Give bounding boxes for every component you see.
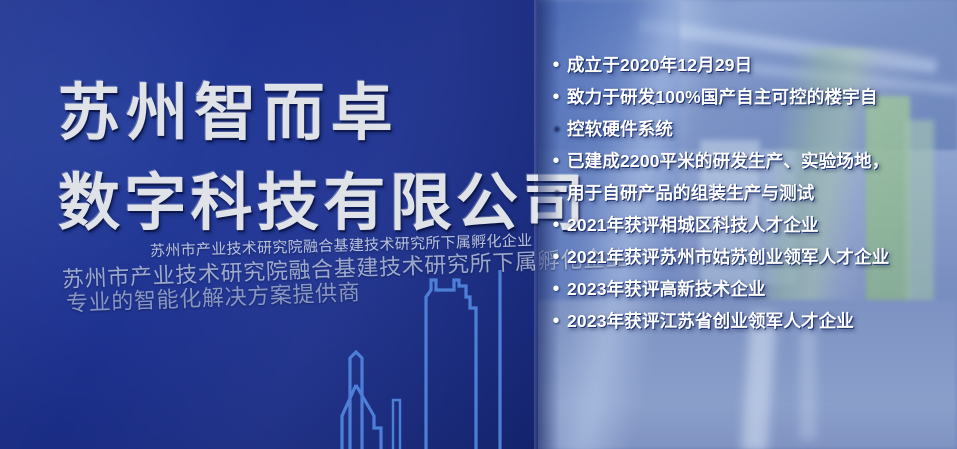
bullet-dot-icon: •	[545, 114, 567, 144]
bullet-dot-icon: •	[545, 306, 567, 336]
highlight-item: •2023年获评高新技术企业	[545, 274, 950, 304]
highlight-item: •成立于2020年12月29日	[545, 50, 950, 80]
company-name-line-2: 数字科技有限公司	[58, 152, 589, 242]
highlight-text: 2021年获评苏州市姑苏创业领军人才企业	[567, 242, 950, 272]
floor-reflection-2	[800, 330, 816, 440]
highlight-text: 致力于研发100%国产自主可控的楼宇自	[567, 82, 950, 112]
company-name-line-1: 苏州智而卓	[58, 62, 399, 152]
highlight-item: •2023年获评江苏省创业领军人才企业	[545, 306, 950, 336]
highlight-item: •2021年获评苏州市姑苏创业领军人才企业	[545, 242, 950, 272]
highlight-item: •控软硬件系统	[545, 114, 950, 144]
highlight-text: 控软硬件系统	[567, 114, 950, 144]
highlight-text: 2023年获评高新技术企业	[567, 274, 950, 304]
bullet-dot-icon: •	[545, 50, 567, 80]
highlight-text: 2023年获评江苏省创业领军人才企业	[567, 306, 950, 336]
highlight-item: •已建成2200平米的研发生产、实验场地，	[545, 146, 950, 176]
bullet-dot-icon: •	[545, 82, 567, 112]
bullet-dot-icon: •	[545, 210, 567, 240]
highlight-text: 用于自研产品的组装生产与测试	[567, 178, 950, 208]
bullet-dot-icon: •	[545, 242, 567, 272]
highlight-item: •致力于研发100%国产自主可控的楼宇自	[545, 82, 950, 112]
highlight-item: •2021年获评相城区科技人才企业	[545, 210, 950, 240]
bullet-dot-icon: •	[545, 274, 567, 304]
presentation-slide: 苏州智而卓 数字科技有限公司 苏州市产业技术研究院融合基建技术研究所下属孵化企业…	[0, 0, 957, 449]
bullet-dot-icon: •	[545, 178, 567, 208]
company-highlights-list: •成立于2020年12月29日•致力于研发100%国产自主可控的楼宇自•控软硬件…	[545, 50, 950, 338]
highlight-item: •用于自研产品的组装生产与测试	[545, 178, 950, 208]
bullet-dot-icon: •	[545, 146, 567, 176]
highlight-text: 已建成2200平米的研发生产、实验场地，	[567, 146, 950, 176]
blue-feature-wall: 苏州智而卓 数字科技有限公司 苏州市产业技术研究院融合基建技术研究所下属孵化企业…	[0, 0, 538, 449]
highlight-text: 2021年获评相城区科技人才企业	[567, 210, 950, 240]
highlight-text: 成立于2020年12月29日	[567, 50, 950, 80]
